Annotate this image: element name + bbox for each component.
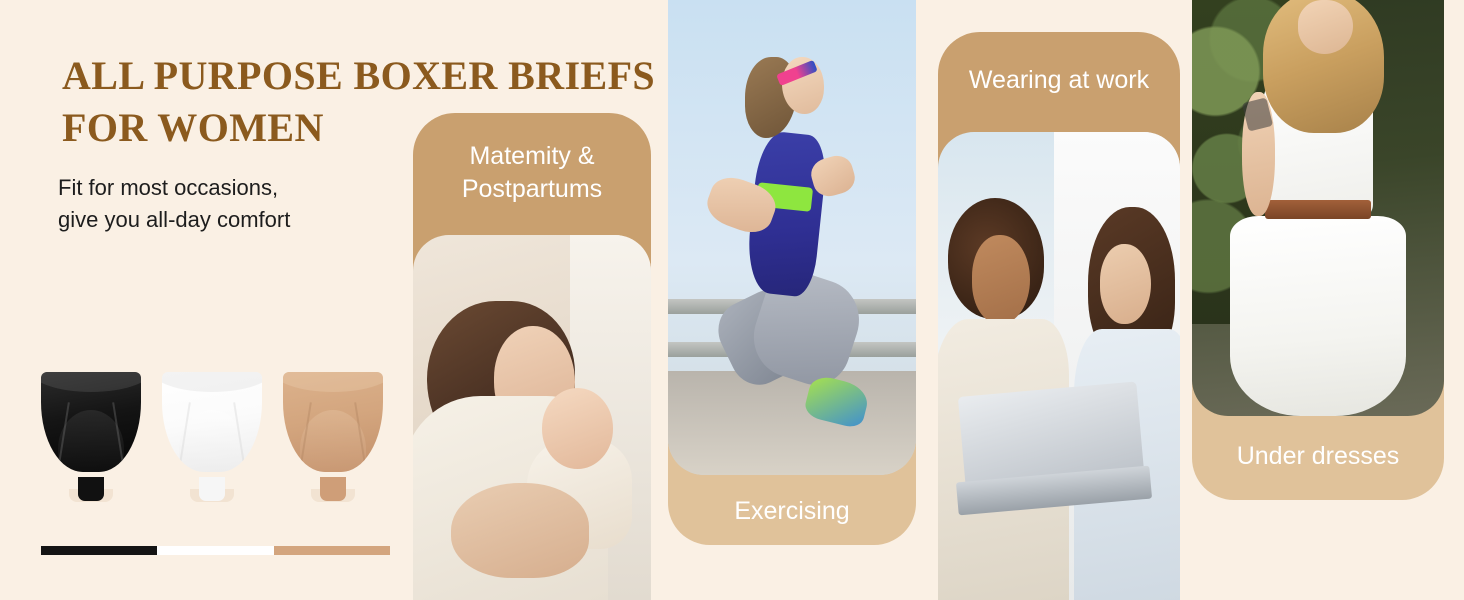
card-label-exercising: Exercising (668, 495, 916, 528)
swatch-black[interactable] (41, 546, 157, 555)
card-photo-exercising (668, 0, 916, 475)
headline-line-1: ALL PURPOSE BOXER BRIEFS (62, 50, 662, 102)
brief-body (41, 372, 141, 472)
brief-body (162, 372, 262, 472)
use-case-card-under-dresses[interactable]: Under dresses (1192, 0, 1444, 500)
use-case-card-exercising[interactable]: Exercising (668, 0, 916, 545)
brief-gusset (320, 477, 346, 501)
product-image-nude-brief[interactable] (283, 372, 383, 490)
product-banner: ALL PURPOSE BOXER BRIEFS FOR WOMEN Fit f… (0, 0, 1464, 600)
card-label-line-1: Matemity & (469, 142, 594, 170)
swatch-white[interactable] (157, 546, 273, 555)
brief-body (283, 372, 383, 472)
card-label-maternity: Matemity & Postpartums (413, 140, 651, 205)
use-case-card-wearing-at-work[interactable]: Wearing at work (938, 32, 1180, 600)
brief-gusset (199, 477, 225, 501)
card-label-line-2: Postpartums (462, 175, 602, 203)
use-case-card-maternity[interactable]: Matemity & Postpartums (413, 113, 651, 600)
card-photo-maternity (413, 235, 651, 600)
card-label-wearing-at-work: Wearing at work (938, 64, 1180, 97)
brief-gusset (78, 477, 104, 501)
card-photo-under-dresses (1192, 0, 1444, 416)
swatch-nude[interactable] (274, 546, 390, 555)
color-swatch-bar (41, 546, 390, 555)
card-photo-wearing-at-work (938, 132, 1180, 600)
product-image-black-brief[interactable] (41, 372, 141, 490)
card-label-under-dresses: Under dresses (1192, 440, 1444, 473)
product-image-white-brief[interactable] (162, 372, 262, 490)
product-color-variants (41, 372, 391, 492)
